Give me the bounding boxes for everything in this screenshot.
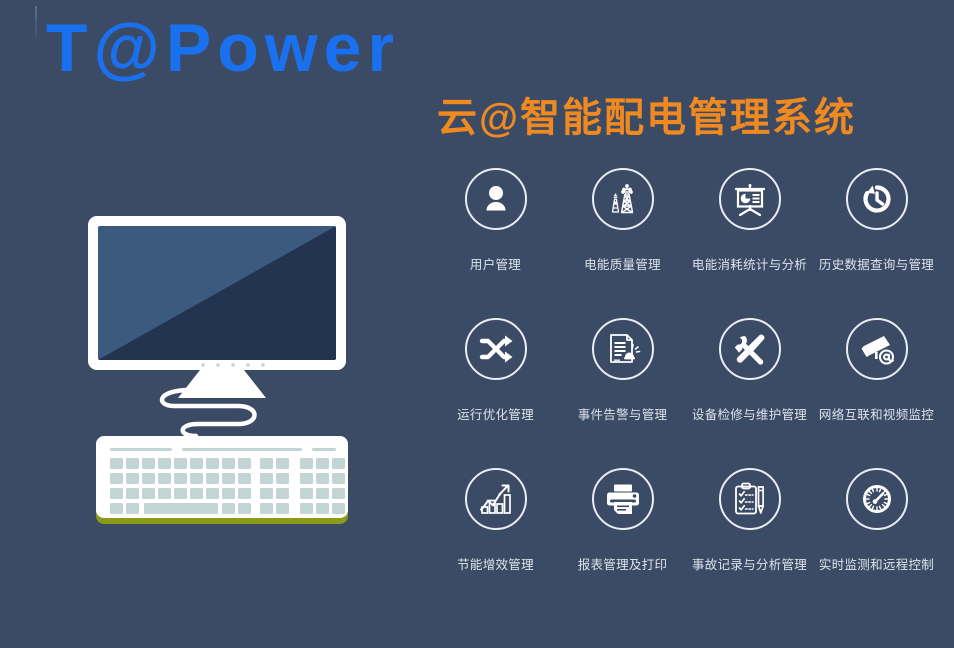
clipboard-pen-icon [719,468,781,530]
feature-item-event-alarm[interactable]: 事件告警与管理 [559,318,686,468]
clock-history-icon [846,168,908,230]
feature-label: 电能消耗统计与分析 [692,254,807,273]
document-alarm-icon [592,318,654,380]
feature-item-maintenance[interactable]: 设备检修与维护管理 [686,318,813,468]
growth-chart-icon [465,468,527,530]
security-camera-at-icon [846,318,908,380]
feature-item-history-data[interactable]: 历史数据查询与管理 [813,168,940,318]
edge-artifact [35,6,37,44]
feature-item-video-surveillance[interactable]: 网络互联和视频监控 [813,318,940,468]
feature-label: 事件告警与管理 [578,404,668,423]
feature-item-user-management[interactable]: 用户管理 [432,168,559,318]
feature-grid: 用户管理 [432,168,940,618]
gauge-icon [846,468,908,530]
computer-illustration [78,208,378,538]
feature-label: 运行优化管理 [457,404,534,423]
shuffle-arrows-icon [465,318,527,380]
feature-item-power-quality[interactable]: 电能质量管理 [559,168,686,318]
feature-item-report-print[interactable]: 报表管理及打印 [559,468,686,618]
printer-icon [592,468,654,530]
wrench-screwdriver-icon [719,318,781,380]
feature-label: 节能增效管理 [457,554,534,573]
page-title: T@Power [46,14,400,82]
feature-label: 设备检修与维护管理 [692,404,807,423]
feature-label: 历史数据查询与管理 [819,254,934,273]
power-tower-icon [592,168,654,230]
presentation-chart-icon [719,168,781,230]
feature-item-consumption-analysis[interactable]: 电能消耗统计与分析 [686,168,813,318]
feature-label: 网络互联和视频监控 [819,404,934,423]
feature-item-incident-record[interactable]: 事故记录与分析管理 [686,468,813,618]
feature-item-energy-saving[interactable]: 节能增效管理 [432,468,559,618]
feature-item-realtime-monitoring[interactable]: 实时监测和远程控制 [813,468,940,618]
feature-label: 用户管理 [470,254,521,273]
page-subtitle: 云@智能配电管理系统 [437,98,856,138]
feature-label: 实时监测和远程控制 [819,554,934,573]
user-icon [465,168,527,230]
poster-canvas: T@Power 云@智能配电管理系统 [0,0,954,648]
feature-label: 电能质量管理 [584,254,661,273]
feature-label: 事故记录与分析管理 [692,554,807,573]
feature-label: 报表管理及打印 [578,554,668,573]
feature-item-operation-optimization[interactable]: 运行优化管理 [432,318,559,468]
